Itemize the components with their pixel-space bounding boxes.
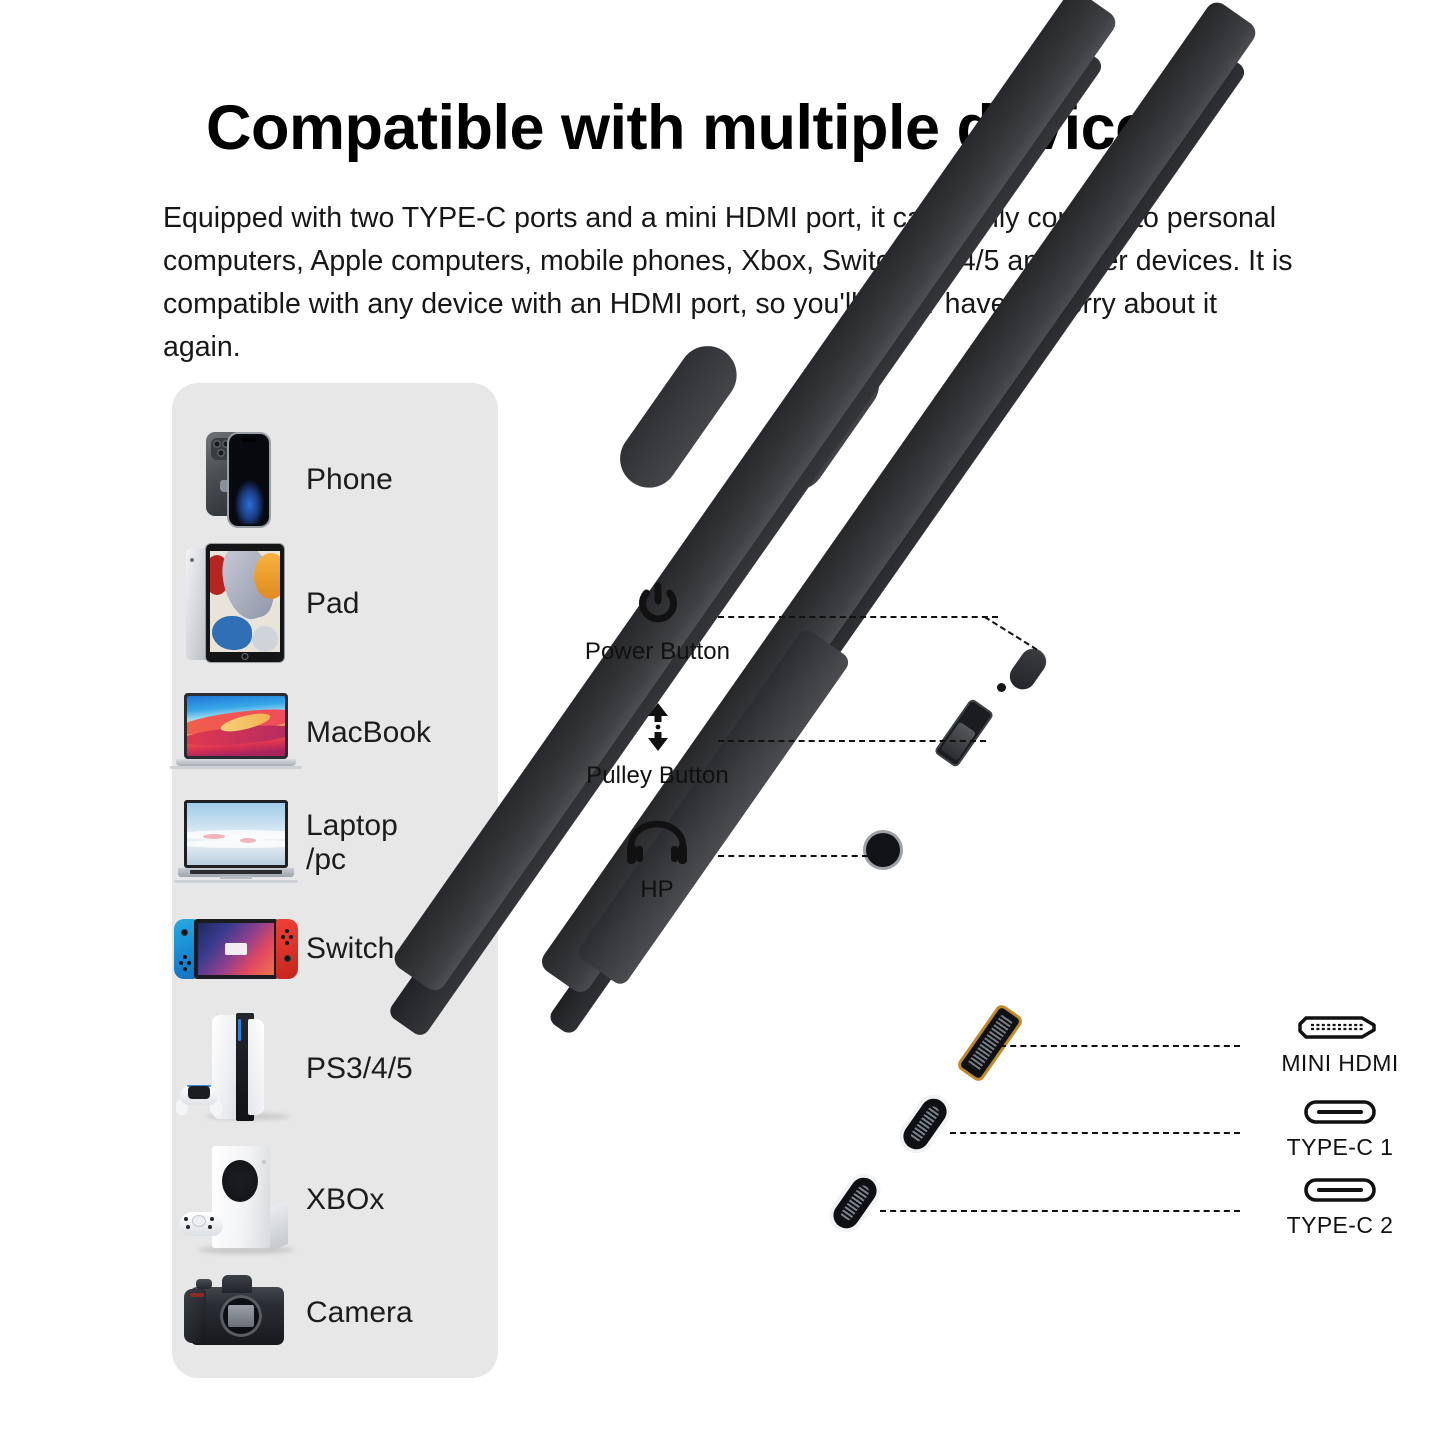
callout-label-power: Power Button <box>570 638 745 666</box>
xbox-console-icon <box>172 1144 300 1256</box>
leader-line-typec2 <box>880 1210 1240 1212</box>
usb-c-connector-icon <box>1303 1176 1377 1204</box>
device-row-pad: Pad <box>172 535 498 673</box>
nintendo-switch-icon <box>172 905 300 993</box>
device-label-laptop-pc: Laptop /pc <box>300 809 398 876</box>
laptop-pc-icon <box>172 800 300 886</box>
leader-line-pulley <box>718 740 986 742</box>
leader-line-power <box>718 616 998 618</box>
leader-line-typec1 <box>950 1132 1240 1134</box>
type-c-port-1[interactable] <box>898 1094 951 1155</box>
leader-line-hdmi <box>1000 1045 1240 1047</box>
device-row-phone: Phone <box>172 421 498 539</box>
callout-label-hdmi: MINI HDMI <box>1245 1050 1435 1077</box>
usb-c-connector-icon <box>1303 1098 1377 1126</box>
device-label-playstation: PS3/4/5 <box>300 1052 413 1086</box>
leader-line-hp <box>718 855 868 857</box>
device-row-macbook: MacBook <box>172 683 498 783</box>
headphones-icon <box>624 820 690 868</box>
ipad-icon <box>172 544 300 664</box>
device-label-macbook: MacBook <box>300 716 431 750</box>
device-label-laptop-line1: Laptop <box>306 809 398 842</box>
callout-label-pulley: Pulley Button <box>570 762 745 790</box>
device-row-camera: Camera <box>172 1265 498 1361</box>
callout-label-typec2: TYPE-C 2 <box>1245 1212 1435 1239</box>
type-c-port-2[interactable] <box>828 1173 881 1234</box>
monitor-front-hinge <box>609 335 748 499</box>
iphone-icon <box>172 432 300 528</box>
callout-type-c-1: TYPE-C 1 <box>1245 1098 1435 1161</box>
dslr-camera-icon <box>172 1271 300 1355</box>
led-indicator <box>997 683 1006 692</box>
device-label-switch: Switch <box>300 932 394 966</box>
hdmi-connector-icon <box>1298 1012 1382 1042</box>
callout-label-typec1: TYPE-C 1 <box>1245 1134 1435 1161</box>
device-row-playstation: PS3/4/5 <box>172 1005 498 1133</box>
callout-label-hp: HP <box>578 876 736 904</box>
callout-type-c-2: TYPE-C 2 <box>1245 1176 1435 1239</box>
callout-power-button: Power Button <box>570 582 745 666</box>
playstation-console-icon <box>172 1013 300 1125</box>
up-down-arrow-icon <box>641 700 675 754</box>
callout-hp: HP <box>578 820 736 904</box>
device-label-xbox: XBOx <box>300 1183 384 1217</box>
device-label-pad: Pad <box>300 587 359 621</box>
callout-mini-hdmi: MINI HDMI <box>1245 1012 1435 1077</box>
power-icon <box>635 582 681 630</box>
callout-pulley-button: Pulley Button <box>570 700 745 790</box>
power-button[interactable] <box>1005 644 1052 695</box>
device-label-laptop-line2: /pc <box>306 843 346 876</box>
device-label-camera: Camera <box>300 1296 413 1330</box>
device-row-xbox: XBOx <box>172 1139 498 1261</box>
mini-hdmi-port[interactable] <box>960 1007 1021 1080</box>
headphone-jack[interactable] <box>866 833 900 867</box>
pulley-button[interactable] <box>934 698 995 768</box>
device-label-phone: Phone <box>300 463 393 497</box>
macbook-icon <box>172 693 300 773</box>
